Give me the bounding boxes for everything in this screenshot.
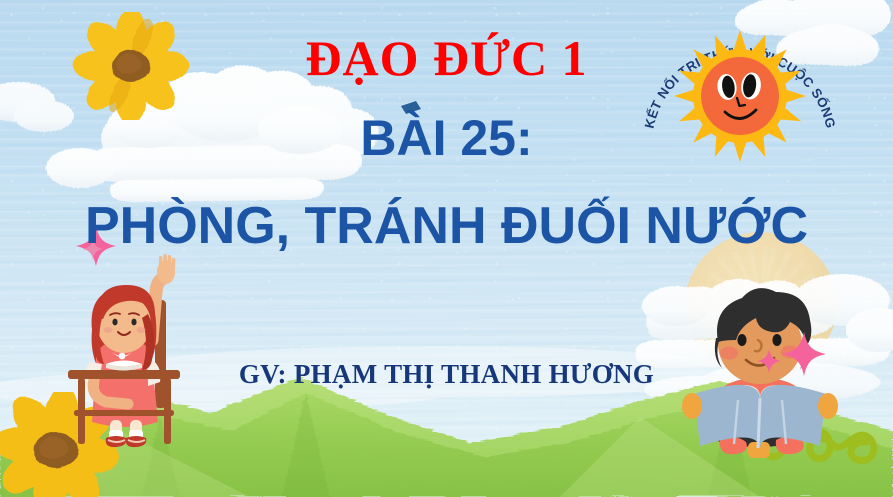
lesson-title: PHÒNG, TRÁNH ĐUỐI NƯỚC — [0, 196, 893, 256]
girl-raising-hand-at-desk-illustration — [60, 252, 200, 457]
subject-title: ĐẠO ĐỨC 1 — [0, 30, 893, 86]
presentation-slide: KẾT NỐI TRI THỨC VỚI CUỘC SỐNG — [0, 0, 893, 497]
teacher-name: GV: PHẠM THỊ THANH HƯƠNG — [0, 357, 893, 391]
lesson-number-label: BÀI 25: — [0, 110, 893, 166]
